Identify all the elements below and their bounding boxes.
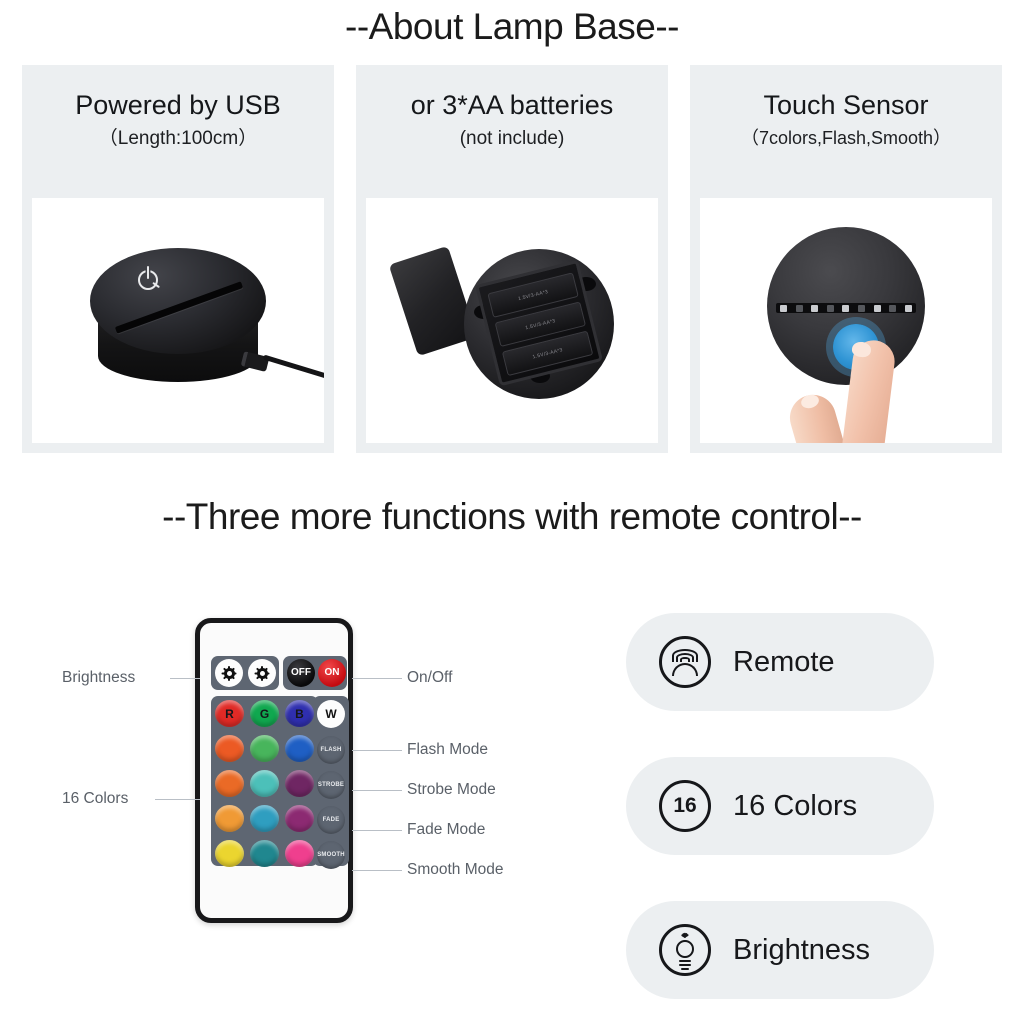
leader-line bbox=[352, 870, 402, 871]
panel-subtitle: （7colors,Flash,Smooth） bbox=[698, 128, 994, 150]
color-button[interactable] bbox=[285, 735, 314, 762]
brightness-icon bbox=[659, 924, 711, 976]
sun-dim-icon bbox=[257, 668, 268, 679]
led bbox=[905, 305, 912, 312]
color-button-green[interactable]: G bbox=[250, 700, 279, 727]
led bbox=[889, 305, 896, 312]
photo-usb-lamp-base bbox=[32, 198, 324, 443]
callout-brightness: Brightness bbox=[62, 669, 135, 687]
feature-pill-16-colors[interactable]: 16 16 Colors bbox=[626, 757, 934, 855]
panel-title: or 3*AA batteries bbox=[364, 90, 660, 120]
sun-bright-icon bbox=[224, 668, 235, 679]
smooth-mode-button[interactable]: SMOOTH bbox=[317, 841, 345, 869]
color-button[interactable] bbox=[285, 770, 314, 797]
brightness-down-button[interactable] bbox=[248, 659, 276, 687]
leader-line bbox=[352, 750, 402, 751]
led bbox=[842, 305, 849, 312]
color-button-white[interactable]: W bbox=[317, 700, 345, 728]
color-button[interactable] bbox=[285, 805, 314, 832]
callout-16-colors: 16 Colors bbox=[62, 790, 128, 808]
infographic-page: --About Lamp Base-- Powered by USB （Leng… bbox=[0, 0, 1024, 1024]
feature-pill-brightness[interactable]: Brightness bbox=[626, 901, 934, 999]
color-button[interactable] bbox=[215, 735, 244, 762]
photo-battery-compartment: 1.5V/3-AA*3 1.5V/3-AA*3 1.5V/3-AA*3 bbox=[366, 198, 658, 443]
section-title-remote-functions: --Three more functions with remote contr… bbox=[0, 496, 1024, 538]
callout-fade-mode: Fade Mode bbox=[407, 821, 485, 839]
leader-line bbox=[352, 678, 402, 679]
led bbox=[780, 305, 787, 312]
color-button-red[interactable]: R bbox=[215, 700, 244, 727]
sixteen-badge-text: 16 bbox=[662, 783, 708, 829]
battery-base-illustration: 1.5V/3-AA*3 1.5V/3-AA*3 1.5V/3-AA*3 bbox=[402, 245, 622, 405]
remote-icon bbox=[659, 636, 711, 688]
callout-smooth-mode: Smooth Mode bbox=[407, 861, 504, 879]
panel-title: Touch Sensor bbox=[698, 90, 994, 120]
panel-aa-batteries: or 3*AA batteries (not include) 1.5V/3-A… bbox=[356, 65, 668, 453]
fade-mode-button[interactable]: FADE bbox=[317, 806, 345, 834]
strobe-mode-button[interactable]: STROBE bbox=[317, 771, 345, 799]
led-strip bbox=[776, 303, 916, 313]
leader-line bbox=[352, 790, 402, 791]
usb-cable bbox=[263, 355, 324, 379]
on-button[interactable]: ON bbox=[318, 659, 346, 687]
panel-title: Powered by USB bbox=[30, 90, 326, 120]
leader-line bbox=[170, 678, 200, 679]
lamp-base-underside: 1.5V/3-AA*3 1.5V/3-AA*3 1.5V/3-AA*3 bbox=[464, 249, 614, 399]
color-button[interactable] bbox=[215, 840, 244, 867]
color-button[interactable] bbox=[250, 840, 279, 867]
led bbox=[874, 305, 881, 312]
panel-touch-sensor: Touch Sensor （7colors,Flash,Smooth） bbox=[690, 65, 1002, 453]
leader-line bbox=[155, 799, 200, 800]
panel-subtitle: （Length:100cm） bbox=[30, 128, 326, 151]
photo-touch-sensor bbox=[700, 198, 992, 443]
feature-label: Brightness bbox=[733, 934, 870, 967]
color-button-blue[interactable]: B bbox=[285, 700, 314, 727]
led bbox=[811, 305, 818, 312]
led bbox=[827, 305, 834, 312]
brightness-up-button[interactable] bbox=[215, 659, 243, 687]
flash-mode-button[interactable]: FLASH bbox=[317, 736, 345, 764]
lamp-base-top bbox=[90, 248, 266, 354]
feature-label: 16 Colors bbox=[733, 790, 857, 823]
callout-strobe-mode: Strobe Mode bbox=[407, 781, 496, 799]
color-button[interactable] bbox=[250, 770, 279, 797]
page-title-about-lamp-base: --About Lamp Base-- bbox=[0, 6, 1024, 48]
leader-line bbox=[352, 830, 402, 831]
panel-powered-by-usb: Powered by USB （Length:100cm） bbox=[22, 65, 334, 453]
feature-pill-remote[interactable]: Remote bbox=[626, 613, 934, 711]
color-button[interactable] bbox=[215, 805, 244, 832]
feature-label: Remote bbox=[733, 646, 835, 679]
callout-flash-mode: Flash Mode bbox=[407, 741, 488, 759]
lamp-base-illustration bbox=[90, 248, 266, 402]
sixteen-icon: 16 bbox=[659, 780, 711, 832]
off-button[interactable]: OFF bbox=[287, 659, 315, 687]
callout-on-off: On/Off bbox=[407, 669, 452, 687]
battery-cover-lid bbox=[389, 246, 478, 356]
color-button[interactable] bbox=[250, 805, 279, 832]
remote-control[interactable]: OFF ON R G B W FLASH STROBE FADE SMOOTH bbox=[195, 618, 353, 923]
color-button[interactable] bbox=[285, 840, 314, 867]
led bbox=[858, 305, 865, 312]
color-button[interactable] bbox=[250, 735, 279, 762]
color-button[interactable] bbox=[215, 770, 244, 797]
panel-subtitle: (not include) bbox=[364, 128, 660, 151]
led bbox=[796, 305, 803, 312]
